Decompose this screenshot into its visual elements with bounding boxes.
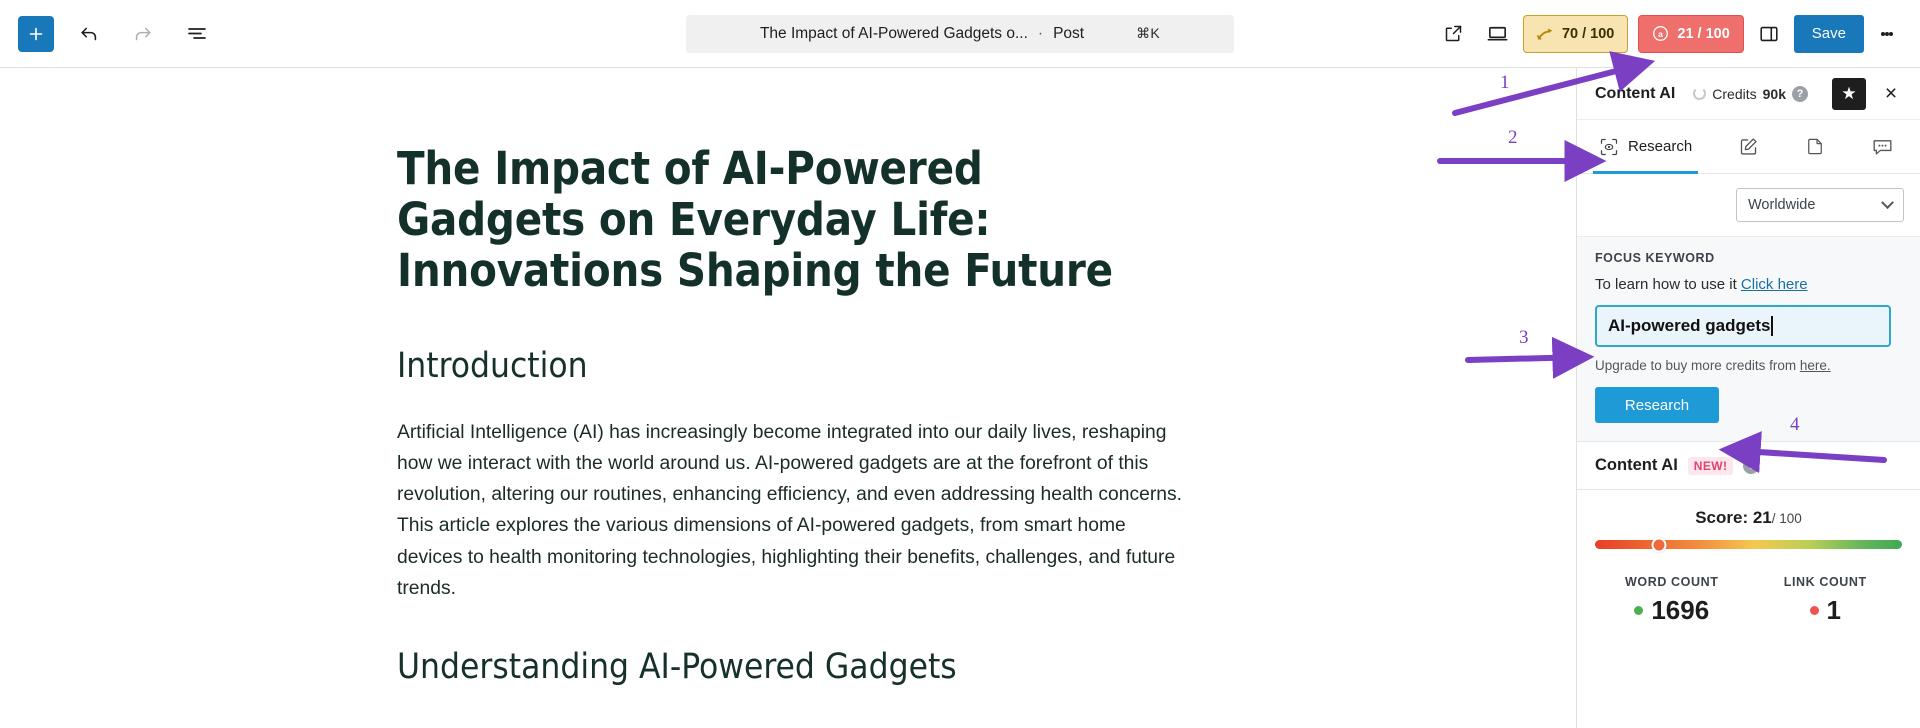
tab-page[interactable] (1799, 120, 1831, 174)
chevron-down-icon (1881, 196, 1894, 209)
sidebar-header: Content AI Credits 90k ? ★ × (1577, 68, 1920, 120)
tab-research-label: Research (1628, 138, 1692, 155)
help-icon[interactable]: ? (1743, 458, 1759, 474)
content-ai-icon: a (1652, 25, 1669, 42)
document-title-pill[interactable]: The Impact of AI-Powered Gadgets o... · … (686, 15, 1234, 53)
content-ai-section-header: Content AI NEW! ? (1577, 442, 1920, 490)
tab-write[interactable] (1732, 120, 1765, 174)
document-separator: · (1038, 25, 1043, 43)
kebab-dot (1889, 32, 1893, 36)
focus-keyword-hint: To learn how to use it Click here (1595, 276, 1902, 293)
loading-spinner-icon (1693, 87, 1706, 100)
click-here-link[interactable]: Click here (1741, 276, 1808, 293)
ai-score-badge[interactable]: a 21 / 100 (1638, 15, 1743, 53)
redo-button[interactable] (124, 15, 162, 53)
focus-keyword-input-wrapper: AI-powered gadgets (1595, 305, 1902, 347)
sidebar-title: Content AI (1595, 85, 1675, 103)
link-count-column: LINK COUNT 1 (1749, 575, 1903, 626)
view-post-button[interactable] (1435, 15, 1473, 53)
editor-app: The Impact of AI-Powered Gadgets o... · … (0, 0, 1920, 728)
research-scan-icon (1599, 137, 1619, 157)
link-count-value: 1 (1827, 595, 1841, 626)
document-title-text: The Impact of AI-Powered Gadgets o... (760, 25, 1028, 43)
score-gradient-bar (1595, 540, 1902, 549)
settings-sidebar-icon (1758, 23, 1780, 45)
link-count-label: LINK COUNT (1749, 575, 1903, 589)
score-block: Score: 21/ 100 (1577, 490, 1920, 549)
focus-keyword-input[interactable]: AI-powered gadgets (1595, 305, 1891, 347)
document-bar[interactable]: The Impact of AI-Powered Gadgets o... · … (686, 15, 1234, 53)
text-caret (1771, 316, 1773, 336)
focus-keyword-hint-text: To learn how to use it (1595, 276, 1741, 293)
heading-introduction[interactable]: Introduction (397, 345, 1183, 387)
write-pencil-icon (1738, 136, 1759, 157)
word-count-value-wrap: 1696 (1595, 595, 1749, 626)
desktop-preview-icon (1486, 22, 1509, 45)
undo-button[interactable] (70, 15, 108, 53)
word-count-column: WORD COUNT 1696 (1595, 575, 1749, 626)
region-select[interactable]: Worldwide (1736, 188, 1904, 222)
post-editor-canvas[interactable]: The Impact of AI-Powered Gadgets on Ever… (0, 68, 1576, 728)
content-ai-section-title: Content AI (1595, 456, 1678, 475)
region-selector-row: Worldwide (1577, 174, 1920, 237)
word-count-label: WORD COUNT (1595, 575, 1749, 589)
seo-score-badge[interactable]: 70 / 100 (1523, 15, 1628, 53)
toolbar-left-group (0, 15, 216, 53)
region-selected-value: Worldwide (1748, 197, 1815, 213)
help-icon[interactable]: ? (1792, 86, 1808, 102)
credits-label: Credits (1712, 86, 1756, 102)
upgrade-note-text: Upgrade to buy more credits from (1595, 358, 1800, 373)
external-link-icon (1443, 23, 1464, 44)
command-k-shortcut: ⌘K (1136, 25, 1160, 42)
post-content: The Impact of AI-Powered Gadgets on Ever… (393, 68, 1183, 728)
sidebar-tabs: Research (1577, 120, 1920, 174)
more-options-button[interactable] (1870, 15, 1904, 53)
svg-text:a: a (1659, 29, 1664, 39)
heading-understanding[interactable]: Understanding AI-Powered Gadgets (397, 646, 1183, 688)
post-title[interactable]: The Impact of AI-Powered Gadgets on Ever… (397, 144, 1183, 297)
link-count-value-wrap: 1 (1749, 595, 1903, 626)
preview-device-button[interactable] (1479, 15, 1517, 53)
undo-icon (78, 23, 100, 45)
research-button[interactable]: Research (1595, 387, 1719, 423)
seo-score-value: 70 / 100 (1562, 26, 1614, 42)
credits-value: 90k (1763, 86, 1786, 102)
upgrade-note: Upgrade to buy more credits from here. (1595, 358, 1902, 373)
content-ai-sidebar: Content AI Credits 90k ? ★ × Research (1576, 68, 1920, 728)
document-overview-button[interactable] (178, 15, 216, 53)
tab-chat[interactable] (1865, 120, 1900, 174)
page-document-icon (1805, 136, 1825, 157)
counts-row: WORD COUNT 1696 LINK COUNT 1 (1577, 575, 1920, 626)
favorite-star-button[interactable]: ★ (1832, 78, 1866, 110)
document-overview-icon (185, 22, 209, 46)
tab-research[interactable]: Research (1593, 120, 1698, 174)
add-block-button[interactable] (18, 16, 54, 52)
paragraph-intro[interactable]: Artificial Intelligence (AI) has increas… (397, 417, 1187, 605)
upgrade-here-link[interactable]: here. (1800, 358, 1831, 373)
word-count-value: 1696 (1651, 595, 1709, 626)
save-button[interactable]: Save (1794, 15, 1864, 53)
score-marker[interactable] (1652, 537, 1667, 552)
link-count-status-dot (1810, 606, 1819, 615)
credits-display: Credits 90k ? (1693, 86, 1808, 102)
focus-keyword-section: FOCUS KEYWORD To learn how to use it Cli… (1577, 237, 1920, 442)
ai-score-value: 21 / 100 (1677, 26, 1729, 42)
score-denominator: / 100 (1772, 511, 1802, 526)
rank-math-icon (1537, 27, 1554, 41)
new-badge: NEW! (1688, 457, 1734, 475)
score-text: Score: 21/ 100 (1595, 508, 1902, 528)
score-value: 21 (1753, 508, 1772, 527)
word-count-status-dot (1634, 606, 1643, 615)
document-type-text: Post (1053, 25, 1084, 43)
settings-sidebar-toggle[interactable] (1750, 15, 1788, 53)
close-icon[interactable]: × (1876, 79, 1906, 109)
editor-toolbar: The Impact of AI-Powered Gadgets o... · … (0, 0, 1920, 68)
score-prefix: Score: (1695, 508, 1753, 527)
plus-icon (28, 26, 44, 42)
toolbar-right-group: 70 / 100 a 21 / 100 Save (1435, 15, 1904, 53)
focus-keyword-label: FOCUS KEYWORD (1595, 251, 1902, 265)
redo-icon (132, 23, 154, 45)
chat-bubble-icon (1871, 136, 1894, 157)
focus-keyword-value: AI-powered gadgets (1608, 316, 1770, 336)
